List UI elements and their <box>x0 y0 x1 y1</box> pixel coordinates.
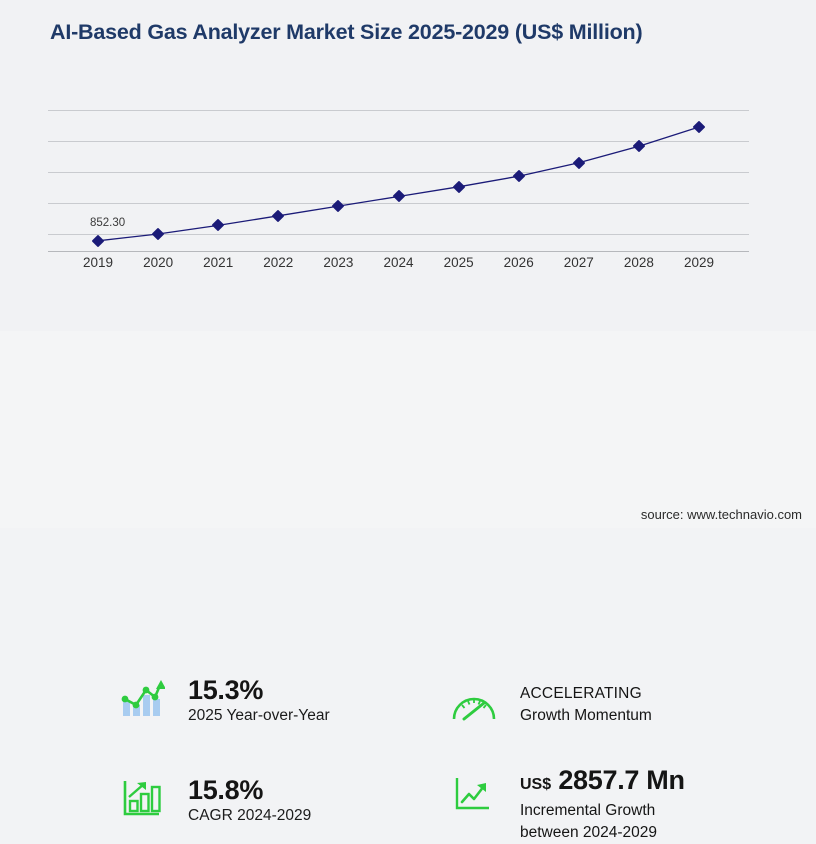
page-title: AI-Based Gas Analyzer Market Size 2025-2… <box>50 18 710 46</box>
source-label: source: www.technavio.com <box>641 507 802 522</box>
bar-chart-growth-icon <box>118 675 166 721</box>
stat-value: 15.3% <box>188 675 330 705</box>
x-axis-labels: 2019202020212022202320242025202620272028… <box>48 255 749 275</box>
x-axis-tick-label: 2021 <box>203 255 233 270</box>
infographic-page: AI-Based Gas Analyzer Market Size 2025-2… <box>0 0 816 528</box>
stat-incremental-growth: US$ 2857.7 Mn Incremental Growth between… <box>450 765 685 844</box>
currency-prefix: US$ <box>520 776 551 793</box>
incremental-value: US$ 2857.7 Mn <box>520 765 685 800</box>
momentum-line-1: ACCELERATING <box>520 683 652 705</box>
x-axis-tick-label: 2026 <box>504 255 534 270</box>
chart-panel: AI-Based Gas Analyzer Market Size 2025-2… <box>0 0 816 331</box>
x-axis-tick-label: 2019 <box>83 255 113 270</box>
stats-panel: 15.3% 2025 Year-over-Year 15.8% CAGR 202… <box>0 331 816 528</box>
stat-text: US$ 2857.7 Mn Incremental Growth between… <box>520 765 685 844</box>
stat-text: 15.3% 2025 Year-over-Year <box>188 675 330 726</box>
stat-cagr: 15.8% CAGR 2024-2029 <box>118 775 311 826</box>
x-axis-tick-label: 2028 <box>624 255 654 270</box>
data-point-label: 852.30 <box>90 217 125 229</box>
stat-value: 15.8% <box>188 775 311 805</box>
x-axis-tick-label: 2020 <box>143 255 173 270</box>
stat-caption: 2025 Year-over-Year <box>188 705 330 726</box>
x-axis-tick-label: 2023 <box>323 255 353 270</box>
x-axis-tick-label: 2022 <box>263 255 293 270</box>
stat-value: 2857.7 Mn <box>558 765 684 795</box>
x-axis-tick-label: 2024 <box>383 255 413 270</box>
chart-plot-area: 852.30 <box>48 100 749 252</box>
incremental-line-2: between 2024-2029 <box>520 822 685 844</box>
stat-text: 15.8% CAGR 2024-2029 <box>188 775 311 826</box>
x-axis-tick-label: 2027 <box>564 255 594 270</box>
stat-year-over-year: 15.3% 2025 Year-over-Year <box>118 675 330 726</box>
incremental-line-1: Incremental Growth <box>520 800 685 822</box>
x-axis-tick-label: 2025 <box>444 255 474 270</box>
stat-growth-momentum: ACCELERATING Growth Momentum <box>450 683 652 729</box>
trend-arrow-icon <box>450 765 498 811</box>
stat-text: ACCELERATING Growth Momentum <box>520 683 652 727</box>
series-line <box>48 100 749 252</box>
x-axis-tick-label: 2029 <box>684 255 714 270</box>
cagr-bar-arrow-icon <box>118 775 166 821</box>
momentum-line-2: Growth Momentum <box>520 705 652 727</box>
speedometer-icon <box>450 683 498 729</box>
stat-caption: CAGR 2024-2029 <box>188 805 311 826</box>
